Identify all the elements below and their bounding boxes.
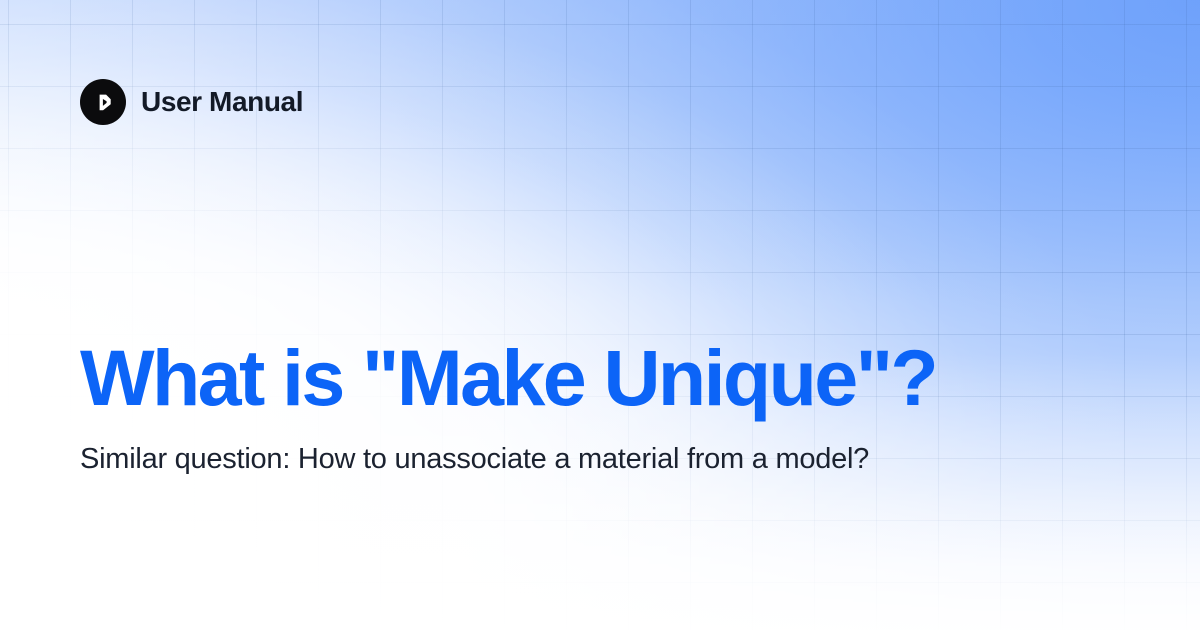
brand-name: User Manual — [141, 88, 303, 116]
brand-header: User Manual — [80, 79, 303, 125]
pennant-logo-icon — [80, 79, 126, 125]
card-content: User Manual What is "Make Unique"? Simil… — [0, 0, 1200, 630]
og-card: User Manual What is "Make Unique"? Simil… — [0, 0, 1200, 630]
headline-block: What is "Make Unique"? Similar question:… — [80, 336, 1090, 478]
page-subtitle: Similar question: How to unassociate a m… — [80, 440, 870, 478]
page-title: What is "Make Unique"? — [80, 336, 1090, 420]
